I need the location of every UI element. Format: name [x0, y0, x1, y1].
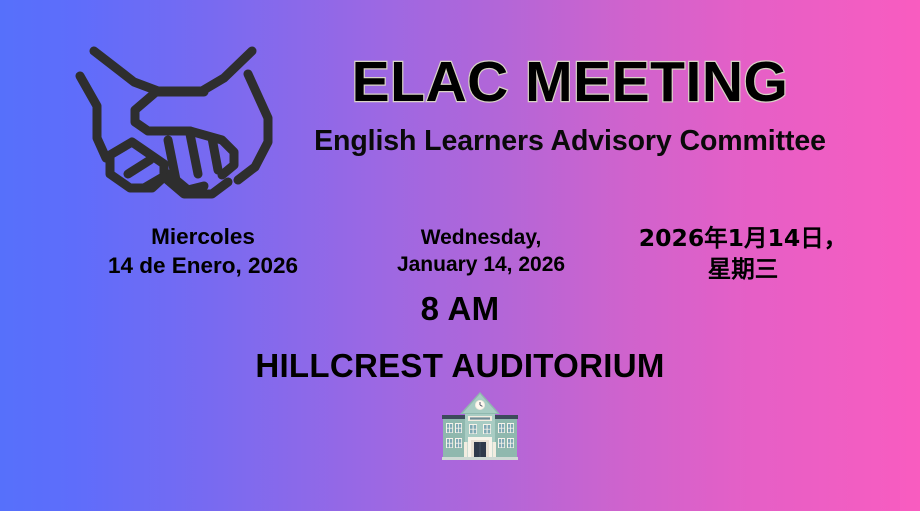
title-block: ELAC MEETING English Learners Advisory C…: [250, 54, 890, 156]
date-english-line2: January 14, 2026: [370, 252, 592, 279]
meeting-time: 8 AM: [0, 292, 920, 325]
date-chinese-line2: 星期三: [620, 254, 866, 285]
date-english: Wednesday, January 14, 2026: [370, 225, 592, 279]
date-spanish-line1: Miercoles: [78, 223, 328, 252]
date-spanish: Miercoles 14 de Enero, 2026: [78, 223, 328, 281]
meeting-venue: HILLCREST AUDITORIUM: [0, 349, 920, 382]
page-title: ELAC MEETING: [250, 54, 890, 111]
dates-row: Miercoles 14 de Enero, 2026 Wednesday, J…: [0, 219, 920, 299]
date-chinese-line1: 2026年1月14日，: [620, 223, 866, 254]
elac-meeting-poster: ELAC MEETING English Learners Advisory C…: [0, 0, 920, 511]
date-spanish-line2: 14 de Enero, 2026: [78, 252, 328, 281]
school-building-icon: [440, 390, 520, 462]
page-subtitle: English Learners Advisory Committee: [250, 127, 890, 156]
time-venue-block: 8 AM HILLCREST AUDITORIUM: [0, 292, 920, 382]
date-chinese: 2026年1月14日， 星期三: [620, 223, 866, 286]
handshake-icon: [72, 34, 280, 204]
date-english-line1: Wednesday,: [370, 225, 592, 252]
